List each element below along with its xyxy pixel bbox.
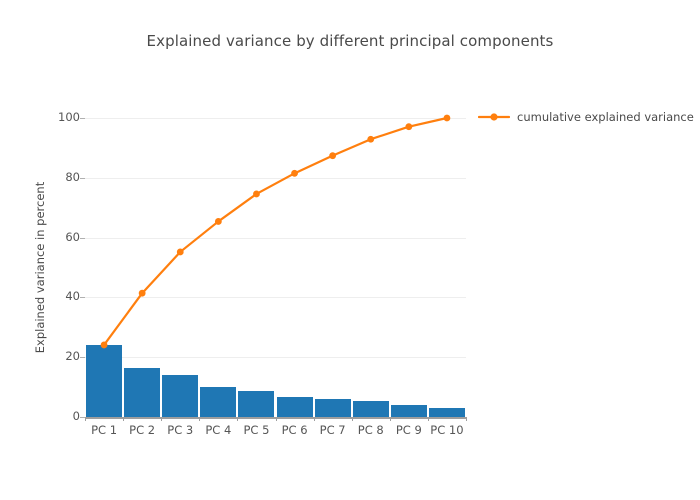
x-axis-tick-mark bbox=[123, 417, 124, 421]
x-axis-tick-mark bbox=[352, 417, 353, 421]
y-axis-tick-label: 0 bbox=[50, 411, 80, 423]
y-axis-tick-mark bbox=[80, 297, 85, 298]
data-point-marker[interactable] bbox=[329, 152, 336, 159]
x-axis-tick-mark bbox=[85, 417, 86, 421]
y-axis-tick-mark bbox=[80, 238, 85, 239]
legend[interactable]: cumulative explained variance bbox=[478, 106, 694, 128]
y-axis-title: Explained variance in percent bbox=[33, 118, 47, 417]
y-axis-tick-label: 40 bbox=[50, 291, 80, 303]
y-axis-tick-labels: 020406080100 bbox=[48, 118, 80, 417]
y-axis-tick-label: 80 bbox=[50, 172, 80, 184]
plot-area bbox=[85, 118, 466, 417]
page-title: Explained variance by different principa… bbox=[0, 32, 700, 50]
cumulative-line bbox=[104, 118, 447, 345]
x-axis-tick-mark bbox=[390, 417, 391, 421]
legend-line-marker-icon bbox=[478, 111, 510, 123]
x-axis-tick-mark bbox=[161, 417, 162, 421]
y-axis-tick-mark bbox=[80, 357, 85, 358]
y-axis-tick-label: 100 bbox=[50, 112, 80, 124]
x-axis-tick-mark bbox=[466, 417, 467, 421]
y-axis-tick-mark bbox=[80, 178, 85, 179]
data-point-marker[interactable] bbox=[367, 136, 374, 143]
data-point-marker[interactable] bbox=[405, 123, 412, 130]
x-axis-tick-mark bbox=[237, 417, 238, 421]
x-axis-tick-mark bbox=[199, 417, 200, 421]
y-axis-tick-label: 60 bbox=[50, 232, 80, 244]
x-axis-tick-mark bbox=[276, 417, 277, 421]
data-point-marker[interactable] bbox=[253, 191, 260, 198]
y-axis-tick-label: 20 bbox=[50, 351, 80, 363]
data-point-marker[interactable] bbox=[177, 249, 184, 256]
legend-item-label: cumulative explained variance bbox=[517, 110, 694, 124]
y-axis-tick-mark bbox=[80, 417, 85, 418]
y-axis-title-wrapper: Explained variance in percent bbox=[33, 118, 49, 417]
data-point-marker[interactable] bbox=[291, 170, 298, 177]
y-axis-tick-mark bbox=[80, 118, 85, 119]
x-axis-tick-label: PC 10 bbox=[417, 423, 477, 437]
cumulative-markers bbox=[101, 115, 451, 349]
chart-figure: Explained variance by different principa… bbox=[0, 0, 700, 500]
data-point-marker[interactable] bbox=[215, 218, 222, 225]
data-point-marker[interactable] bbox=[101, 342, 108, 349]
x-axis-tick-mark bbox=[428, 417, 429, 421]
cumulative-line-series bbox=[85, 118, 466, 417]
data-point-marker[interactable] bbox=[139, 290, 146, 297]
x-axis-tick-mark bbox=[314, 417, 315, 421]
data-point-marker[interactable] bbox=[444, 115, 451, 122]
